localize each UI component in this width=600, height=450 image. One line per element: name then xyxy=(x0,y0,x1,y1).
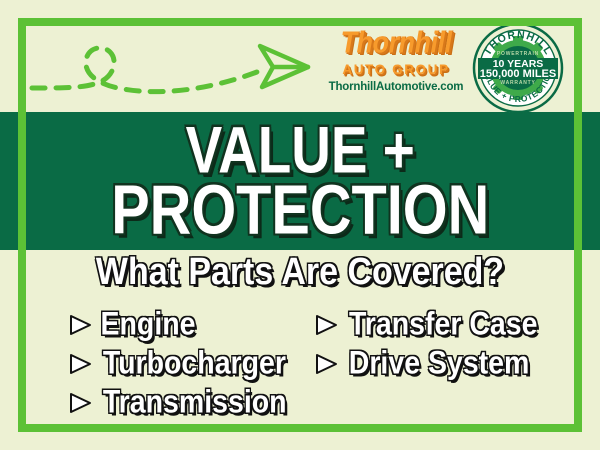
logo-subtitle: AUTO GROUP xyxy=(316,62,476,78)
logo-website-url: ThornhillAutomotive.com xyxy=(316,81,476,93)
logo-wordmark: Thornhill xyxy=(316,28,476,58)
list-item: Engine xyxy=(68,305,291,344)
headline-line-2: PROTECTION xyxy=(111,177,489,244)
list-item: Turbocharger xyxy=(68,344,291,383)
covered-parts-left-column: Engine Turbocharger Transmission xyxy=(68,305,291,422)
triangle-bullet-icon xyxy=(314,353,339,375)
triangle-bullet-icon xyxy=(68,392,93,414)
list-item-label: Engine xyxy=(101,308,196,340)
triangle-bullet-icon xyxy=(68,353,93,375)
badge-powertrain-label: POWERTRAIN xyxy=(497,51,539,57)
list-item: Transfer Case xyxy=(314,305,542,344)
promotional-banner: Thornhill AUTO GROUP ThornhillAutomotive… xyxy=(0,0,600,450)
covered-parts-lists: Engine Turbocharger Transmission xyxy=(26,305,574,425)
thornhill-logo: Thornhill AUTO GROUP ThornhillAutomotive… xyxy=(316,28,476,93)
badge-miles-text: 150,000 MILES xyxy=(480,68,556,80)
triangle-bullet-icon xyxy=(68,314,93,336)
list-item: Transmission xyxy=(68,383,291,422)
warranty-badge-icon: THORNHILL VALUE + PROTECTION POWERTRAIN … xyxy=(472,22,564,114)
triangle-bullet-icon xyxy=(314,314,339,336)
list-item-label: Transfer Case xyxy=(349,308,538,340)
covered-parts-right-column: Transfer Case Drive System xyxy=(314,305,542,383)
list-item-label: Turbocharger xyxy=(103,347,286,379)
list-item: Drive System xyxy=(314,344,542,383)
headline: VALUE + PROTECTION xyxy=(0,112,600,250)
badge-warranty-label: WARRANTY xyxy=(500,80,535,86)
subheading: What Parts Are Covered? xyxy=(9,250,591,293)
list-item-label: Drive System xyxy=(349,347,530,379)
dashed-loop-arrow-icon xyxy=(26,26,316,112)
list-item-label: Transmission xyxy=(103,386,287,418)
